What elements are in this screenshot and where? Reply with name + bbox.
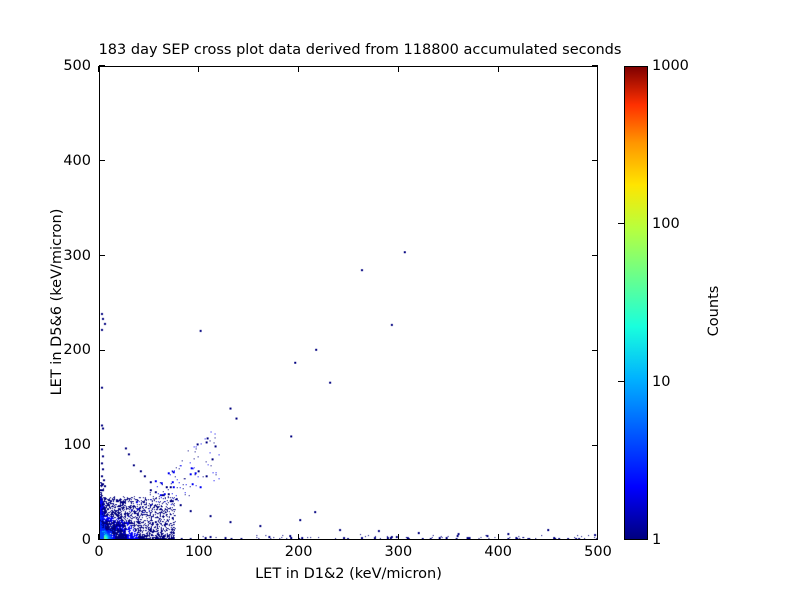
x-tick-top-300 [398, 66, 399, 72]
chart-title-line-1: 183 day SEP cross plot data derived from… [0, 42, 720, 59]
y-tick-right-100 [592, 445, 598, 446]
colorbar-tick-100 [618, 223, 624, 224]
y-tick-200 [99, 350, 105, 351]
x-tick-top-500 [597, 66, 598, 72]
x-tick-0 [98, 534, 99, 540]
y-tick-300 [99, 255, 105, 256]
x-tick-label-400: 400 [458, 545, 538, 560]
x-tick-100 [198, 534, 199, 540]
x-tick-top-100 [198, 66, 199, 72]
y-tick-right-200 [592, 350, 598, 351]
y-tick-100 [99, 445, 105, 446]
x-tick-top-400 [498, 66, 499, 72]
plot-area[interactable] [99, 66, 598, 540]
x-tick-label-100: 100 [159, 545, 239, 560]
x-tick-top-200 [298, 66, 299, 72]
x-tick-500 [597, 534, 598, 540]
y-tick-500 [99, 65, 105, 66]
colorbar-label: Counts [706, 191, 722, 431]
y-tick-400 [99, 160, 105, 161]
colorbar-tick-label-1000: 1000 [652, 59, 689, 74]
x-tick-top-0 [98, 66, 99, 72]
x-axis-label: LET in D1&2 (keV/micron) [99, 566, 598, 582]
x-tick-label-200: 200 [259, 545, 339, 560]
x-tick-300 [398, 534, 399, 540]
x-tick-200 [298, 534, 299, 540]
y-tick-right-300 [592, 255, 598, 256]
colorbar-tick-label-10: 10 [652, 375, 670, 390]
y-tick-0 [99, 539, 105, 540]
colorbar[interactable] [624, 66, 648, 540]
x-tick-label-500: 500 [558, 545, 638, 560]
x-tick-400 [498, 534, 499, 540]
x-tick-label-0: 0 [59, 545, 139, 560]
colorbar-tick-label-100: 100 [652, 217, 680, 232]
colorbar-tick-label-1: 1 [652, 533, 661, 548]
figure-canvas: 183 day SEP cross plot data derived from… [0, 0, 800, 600]
x-tick-label-300: 300 [358, 545, 438, 560]
colorbar-tick-10 [618, 381, 624, 382]
y-tick-right-400 [592, 160, 598, 161]
y-axis-label: LET in D5&6 (keV/micron) [49, 65, 65, 539]
scatter-data-layer [100, 67, 597, 539]
colorbar-gradient [625, 67, 647, 539]
